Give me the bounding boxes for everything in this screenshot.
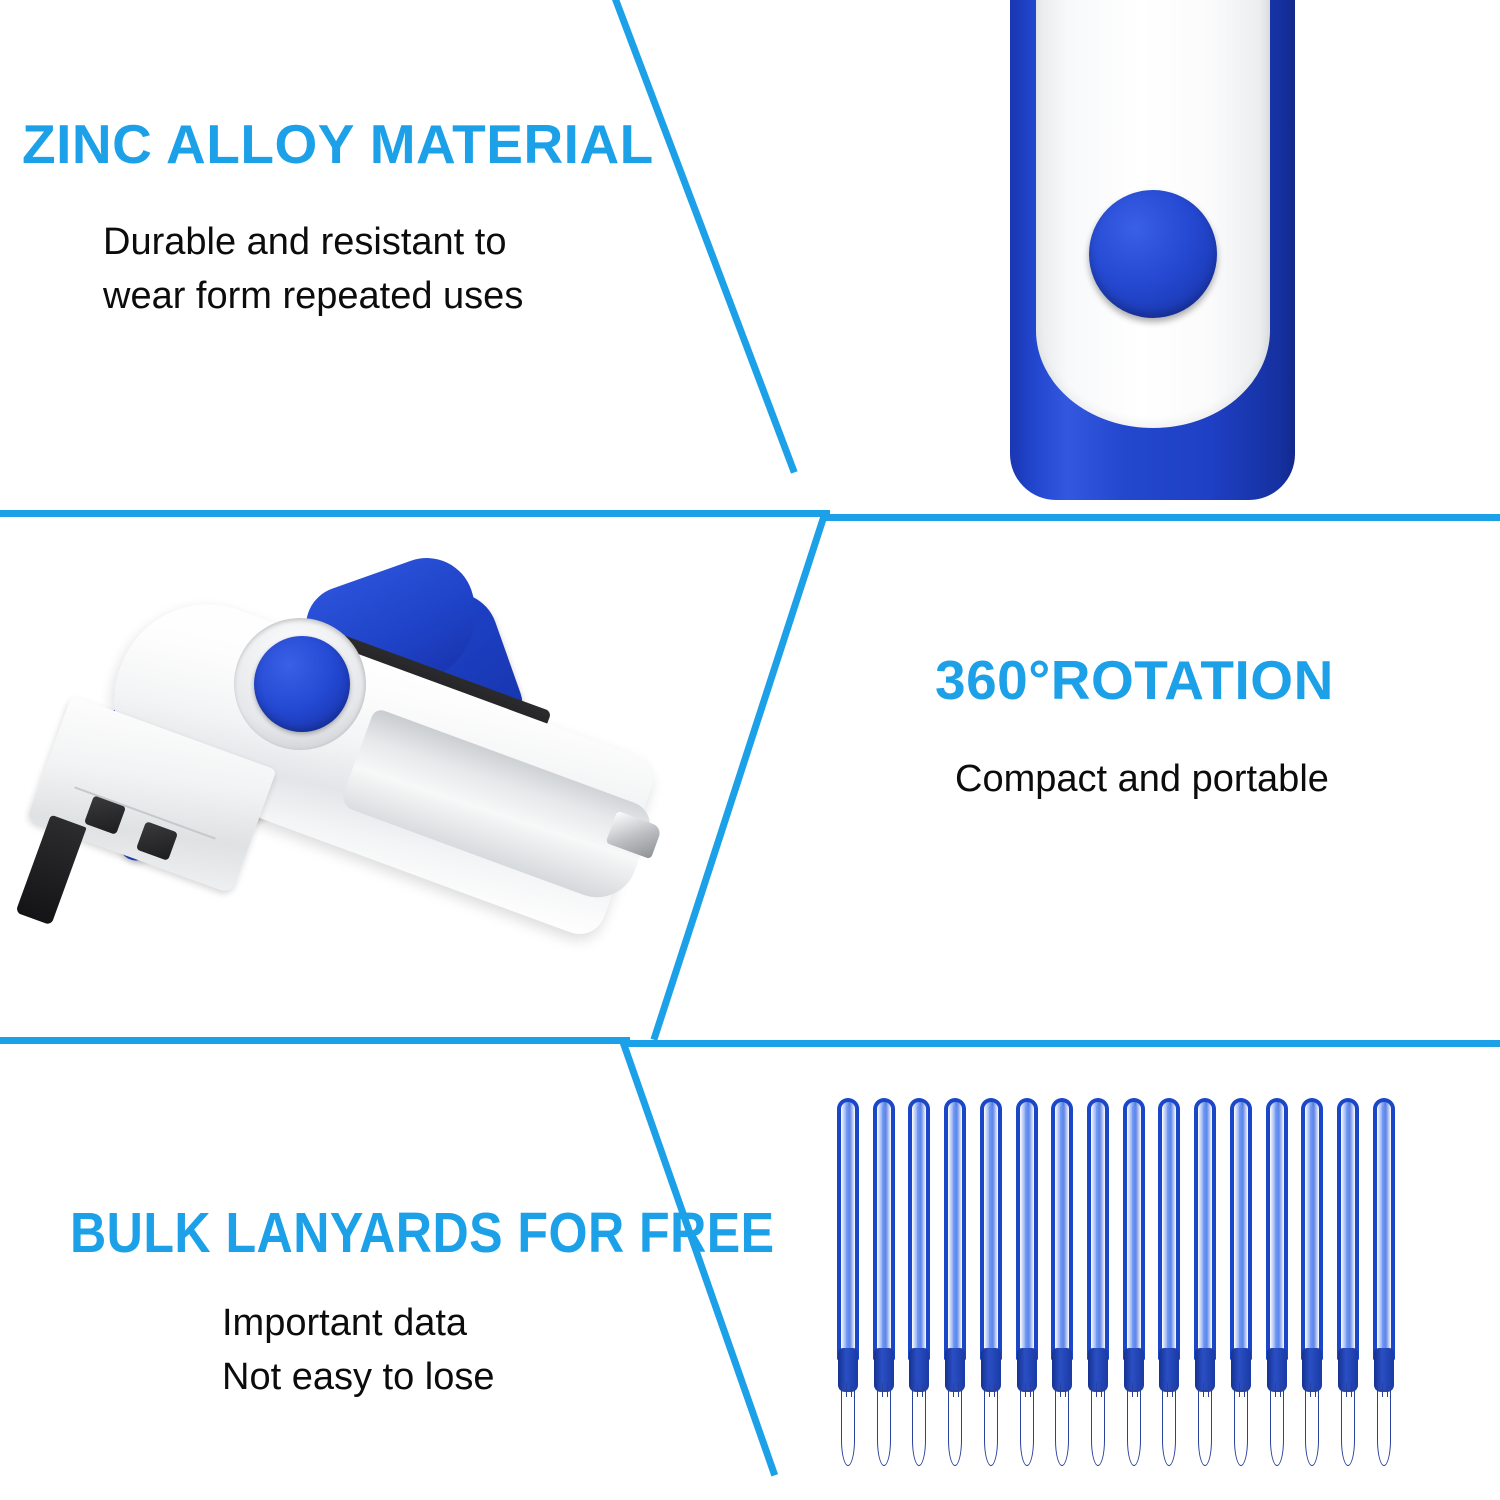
lanyard-wire-loop [1091, 1390, 1105, 1466]
lanyard-item [1372, 1098, 1396, 1470]
panel-subtext-line: Important data [222, 1297, 494, 1351]
panel-subtext-zinc-alloy: Durable and resistant to wear form repea… [103, 216, 523, 324]
divider-line-horizontal-top-left [0, 510, 830, 517]
lanyard-item [1265, 1098, 1289, 1470]
lanyard-item [1050, 1098, 1074, 1470]
lanyard-wire-loop [1020, 1390, 1034, 1466]
lanyard-wire-loop [984, 1390, 998, 1466]
lanyard-strap [1087, 1098, 1109, 1360]
lanyard-item [979, 1098, 1003, 1470]
usb-swivel-blue-button [254, 636, 350, 732]
lanyard-strap [1158, 1098, 1180, 1360]
lanyard-strap [1123, 1098, 1145, 1360]
lanyard-wire-loop [1234, 1390, 1248, 1466]
lanyard-wire-loop [1341, 1390, 1355, 1466]
panel-heading-zinc-alloy: ZINC ALLOY MATERIAL [22, 112, 654, 176]
lanyard-wire-loop [877, 1390, 891, 1466]
lanyard-wire-loop [948, 1390, 962, 1466]
lanyard-strap [873, 1098, 895, 1360]
lanyard-strap [1016, 1098, 1038, 1360]
panel-subtext-line: Not easy to lose [222, 1351, 494, 1405]
divider-line-diagonal-top [611, 0, 797, 474]
lanyard-strap [1373, 1098, 1395, 1360]
panel-subtext-rotation: Compact and portable [955, 753, 1329, 807]
lanyard-wire-loop [841, 1390, 855, 1466]
panel-heading-bulk-lanyards: BULK LANYARDS FOR FREE [70, 1200, 775, 1266]
panel-heading-rotation: 360°ROTATION [935, 648, 1334, 712]
lanyard-item [1300, 1098, 1324, 1470]
lanyard-wire-loop [1377, 1390, 1391, 1466]
lanyard-item [907, 1098, 931, 1470]
lanyard-strap [1194, 1098, 1216, 1360]
lanyard-item [1229, 1098, 1253, 1470]
lanyard-strap [944, 1098, 966, 1360]
lanyard-strap [980, 1098, 1002, 1360]
lanyard-wire-loop [1270, 1390, 1284, 1466]
divider-line-horizontal-bottom-left [0, 1037, 630, 1044]
lanyard-item [836, 1098, 860, 1470]
lanyard-strap [1301, 1098, 1323, 1360]
lanyard-strap [1051, 1098, 1073, 1360]
lanyard-item [943, 1098, 967, 1470]
lanyard-item [1122, 1098, 1146, 1470]
divider-line-horizontal-top-right [826, 514, 1500, 521]
lanyard-item [1336, 1098, 1360, 1470]
blue-lanyard-row-image [836, 1098, 1396, 1470]
divider-line-horizontal-bottom-right [624, 1040, 1500, 1047]
lanyard-strap [1337, 1098, 1359, 1360]
lanyard-item [1193, 1098, 1217, 1470]
usb-cap-blue-button [1089, 190, 1217, 318]
usb-connector-front-face [15, 815, 86, 926]
panel-subtext-line: wear form repeated uses [103, 270, 523, 324]
lanyard-item [872, 1098, 896, 1470]
lanyard-wire-loop [912, 1390, 926, 1466]
lanyard-strap [837, 1098, 859, 1360]
usb-flash-drive-image [18, 560, 718, 980]
lanyard-wire-loop [1127, 1390, 1141, 1466]
lanyard-strap [1230, 1098, 1252, 1360]
panel-subtext-line: Durable and resistant to [103, 216, 523, 270]
lanyard-item [1086, 1098, 1110, 1470]
lanyard-item [1015, 1098, 1039, 1470]
lanyard-wire-loop [1055, 1390, 1069, 1466]
lanyard-strap [908, 1098, 930, 1360]
lanyard-wire-loop [1198, 1390, 1212, 1466]
lanyard-strap [1266, 1098, 1288, 1360]
panel-subtext-bulk-lanyards: Important data Not easy to lose [222, 1297, 494, 1405]
panel-subtext-line: Compact and portable [955, 753, 1329, 807]
lanyard-wire-loop [1162, 1390, 1176, 1466]
usb-swivel-cap-closeup-image [1010, 0, 1295, 500]
product-infographic: ZINC ALLOY MATERIAL Durable and resistan… [0, 0, 1500, 1500]
lanyard-wire-loop [1305, 1390, 1319, 1466]
lanyard-item [1157, 1098, 1181, 1470]
